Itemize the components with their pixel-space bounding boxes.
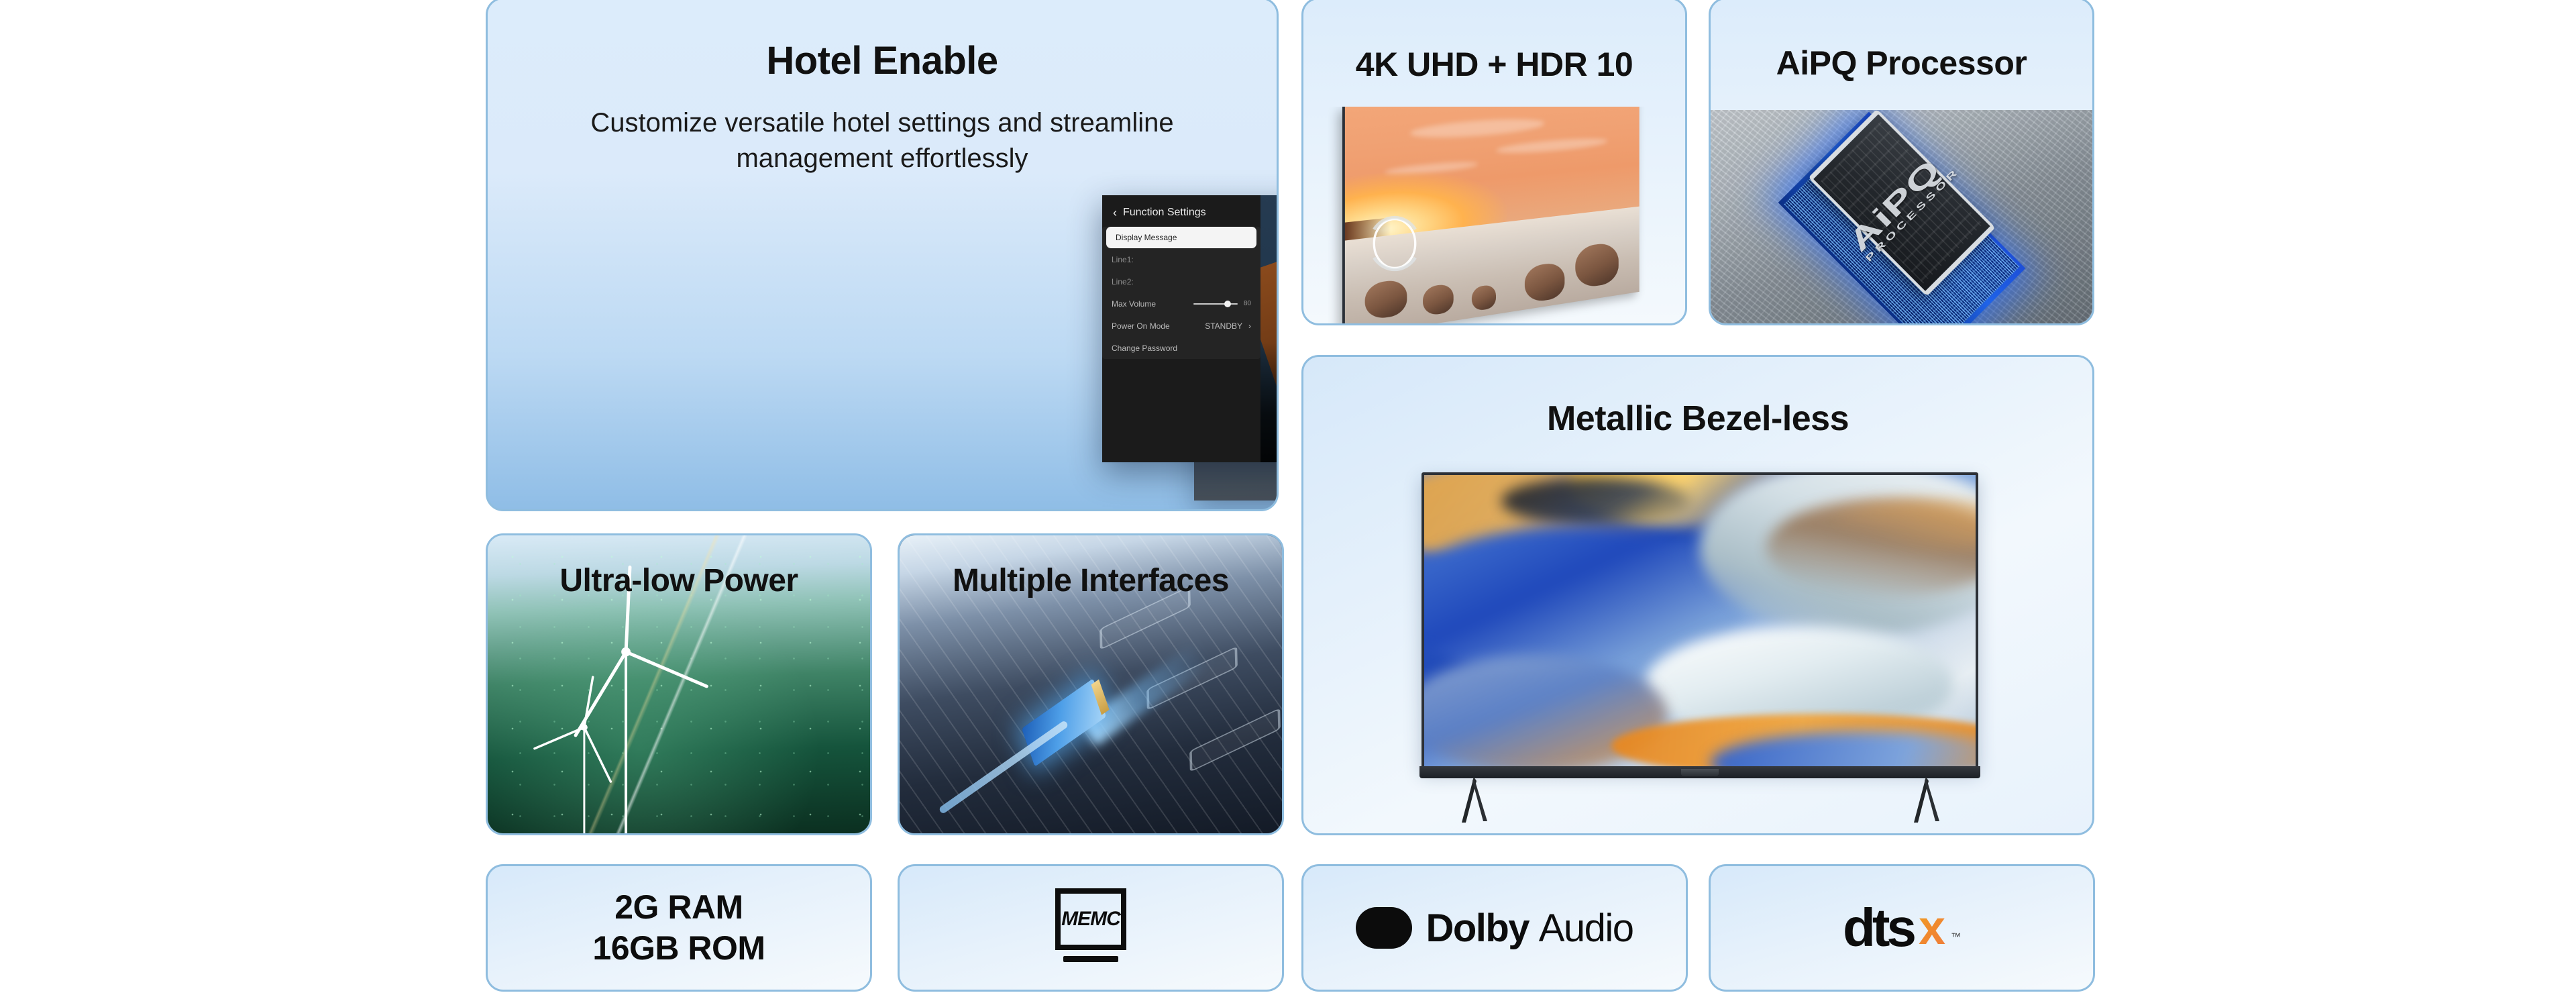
ram-line: 2G RAM xyxy=(592,887,765,928)
dolby-double-d-icon xyxy=(1356,907,1412,949)
dolby-brand: Dolby xyxy=(1426,906,1529,950)
volume-value: 80 xyxy=(1244,300,1251,307)
tv-stand-right xyxy=(1906,777,1946,824)
function-settings-list: Display Message Line1: Line2: Max Volume xyxy=(1102,227,1260,359)
card-aipq-processor[interactable]: AiPQ Processor AiPQ PROCESSOR xyxy=(1709,0,2094,325)
card-subtitle-hotel-enable: Customize versatile hotel settings and s… xyxy=(488,105,1277,176)
memc-label: MEMC xyxy=(1061,908,1120,931)
function-settings-title: Function Settings xyxy=(1123,207,1206,219)
settings-row-label: Power On Mode xyxy=(1112,321,1170,331)
card-ultra-low-power[interactable]: Ultra-low Power xyxy=(486,533,872,835)
memc-logo-icon: MEMC xyxy=(1040,888,1141,967)
max-volume-control[interactable]: 80 xyxy=(1193,300,1251,307)
function-settings-panel[interactable]: ‹ Function Settings Display Message Line… xyxy=(1102,195,1260,462)
settings-row-max-volume[interactable]: Max Volume 80 xyxy=(1102,293,1260,315)
tv-stand-left xyxy=(1454,777,1494,824)
card-title-metallic-bezel-less: Metallic Bezel-less xyxy=(1303,399,2092,439)
feature-grid: Hotel Enable Customize versatile hotel s… xyxy=(0,0,2576,997)
card-metallic-bezel-less[interactable]: Metallic Bezel-less xyxy=(1301,355,2094,835)
settings-row-label: Display Message xyxy=(1116,233,1177,242)
settings-row-label: Line2: xyxy=(1112,277,1134,286)
dts-wordmark: dts xyxy=(1843,904,1913,952)
volume-slider[interactable] xyxy=(1193,303,1238,305)
aipq-chip-illustration: AiPQ PROCESSOR xyxy=(1711,110,2092,323)
power-on-mode-value-group[interactable]: STANDBY › xyxy=(1205,321,1251,331)
settings-row-label: Max Volume xyxy=(1112,299,1156,309)
hotel-tv-front: ‹ Function Settings Display Message Line… xyxy=(1102,195,1279,462)
dts-x-glyph: x xyxy=(1919,906,1945,950)
settings-row-label: Change Password xyxy=(1112,344,1177,353)
card-title-multiple-interfaces: Multiple Interfaces xyxy=(900,562,1282,599)
card-memc[interactable]: MEMC xyxy=(898,864,1284,992)
card-title-ultra-low-power: Ultra-low Power xyxy=(488,562,870,599)
card-4k-uhd-hdr10[interactable]: 4K UHD + HDR 10 xyxy=(1301,0,1687,325)
memc-stand-bar xyxy=(1063,956,1118,962)
settings-row-change-password[interactable]: Change Password xyxy=(1102,337,1260,359)
settings-row-display-message[interactable]: Display Message xyxy=(1106,227,1256,248)
dts-trademark: ™ xyxy=(1951,931,1961,943)
card-title-aipq-processor: AiPQ Processor xyxy=(1711,44,2092,83)
tv-brand-nub xyxy=(1681,769,1719,776)
chevron-left-icon[interactable]: ‹ xyxy=(1113,207,1117,219)
function-settings-header: ‹ Function Settings xyxy=(1102,205,1260,219)
settings-row-line1[interactable]: Line1: xyxy=(1102,248,1260,270)
card-hotel-enable[interactable]: Hotel Enable Customize versatile hotel s… xyxy=(486,0,1279,511)
photo-vignette xyxy=(1260,342,1279,462)
bezel-less-tv xyxy=(1421,472,1978,788)
volume-slider-knob[interactable] xyxy=(1224,301,1231,307)
hotel-building-photo: HOTEL xyxy=(1260,195,1279,462)
dolby-product: Audio xyxy=(1539,906,1633,950)
hdr-focus-ring-icon xyxy=(1362,207,1427,280)
chevron-right-icon[interactable]: › xyxy=(1248,321,1251,331)
settings-row-power-on-mode[interactable]: Power On Mode STANDBY › xyxy=(1102,315,1260,337)
card-title-hotel-enable: Hotel Enable xyxy=(488,38,1277,83)
tv-screen xyxy=(1421,472,1978,769)
settings-row-label: Line1: xyxy=(1112,255,1134,264)
card-multiple-interfaces[interactable]: Multiple Interfaces xyxy=(898,533,1284,835)
dts-x-logo: dts x ™ xyxy=(1843,904,1961,952)
settings-row-line2[interactable]: Line2: xyxy=(1102,270,1260,293)
memc-screen-outline: MEMC xyxy=(1055,888,1126,950)
memory-spec-text: 2G RAM 16GB ROM xyxy=(592,887,765,969)
power-on-mode-value: STANDBY xyxy=(1205,321,1242,331)
dolby-audio-logo: Dolby Audio xyxy=(1356,906,1633,951)
card-dts-x[interactable]: dts x ™ xyxy=(1709,864,2095,992)
dolby-wordmark: Dolby Audio xyxy=(1426,906,1633,951)
card-title-4k-uhd: 4K UHD + HDR 10 xyxy=(1303,45,1685,84)
tv-sunset-illustration xyxy=(1328,107,1687,325)
card-dolby-audio[interactable]: Dolby Audio xyxy=(1301,864,1688,992)
card-memory-spec[interactable]: 2G RAM 16GB ROM xyxy=(486,864,872,992)
rom-line: 16GB ROM xyxy=(592,928,765,969)
